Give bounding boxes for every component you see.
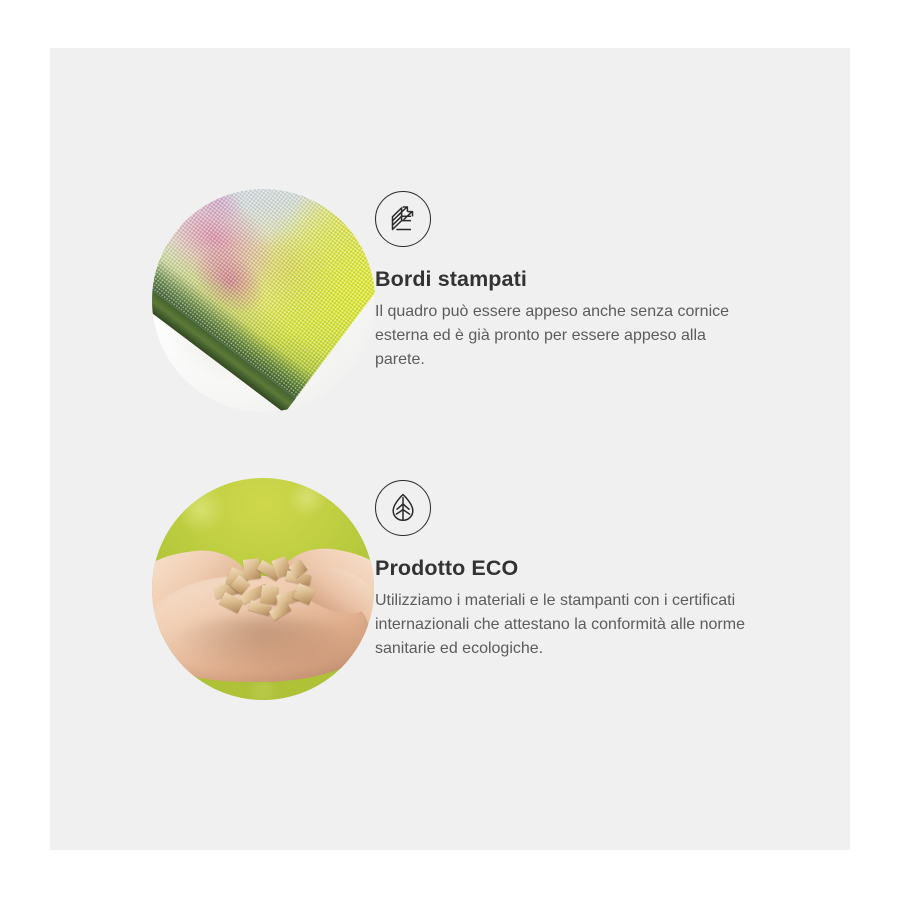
- feature-description-eco-product: Utilizziamo i materiali e le stampanti c…: [375, 589, 747, 661]
- feature-copy-printed-edges: Bordi stampati Il quadro può essere appe…: [375, 189, 850, 372]
- feature-eco-product: Prodotto ECO Utilizziamo i materiali e l…: [50, 478, 850, 718]
- feature-title-eco-product: Prodotto ECO: [375, 556, 850, 582]
- product-feature-page: Bordi stampati Il quadro può essere appe…: [0, 0, 900, 900]
- printed-edge-wrap-icon: [375, 191, 431, 247]
- photo-printed-edges: [152, 189, 375, 412]
- feature-title-printed-edges: Bordi stampati: [375, 267, 850, 293]
- feature-printed-edges: Bordi stampati Il quadro può essere appe…: [50, 189, 850, 429]
- photo-eco-product: [152, 478, 374, 700]
- feature-copy-eco-product: Prodotto ECO Utilizziamo i materiali e l…: [375, 478, 850, 661]
- content-panel: Bordi stampati Il quadro può essere appe…: [50, 48, 850, 850]
- feature-description-printed-edges: Il quadro può essere appeso anche senza …: [375, 300, 747, 372]
- leaf-icon: [375, 480, 431, 536]
- wood-chips-pile: [210, 553, 325, 626]
- feature-media-printed-edges: [50, 189, 375, 429]
- feature-media-eco-product: [50, 478, 375, 718]
